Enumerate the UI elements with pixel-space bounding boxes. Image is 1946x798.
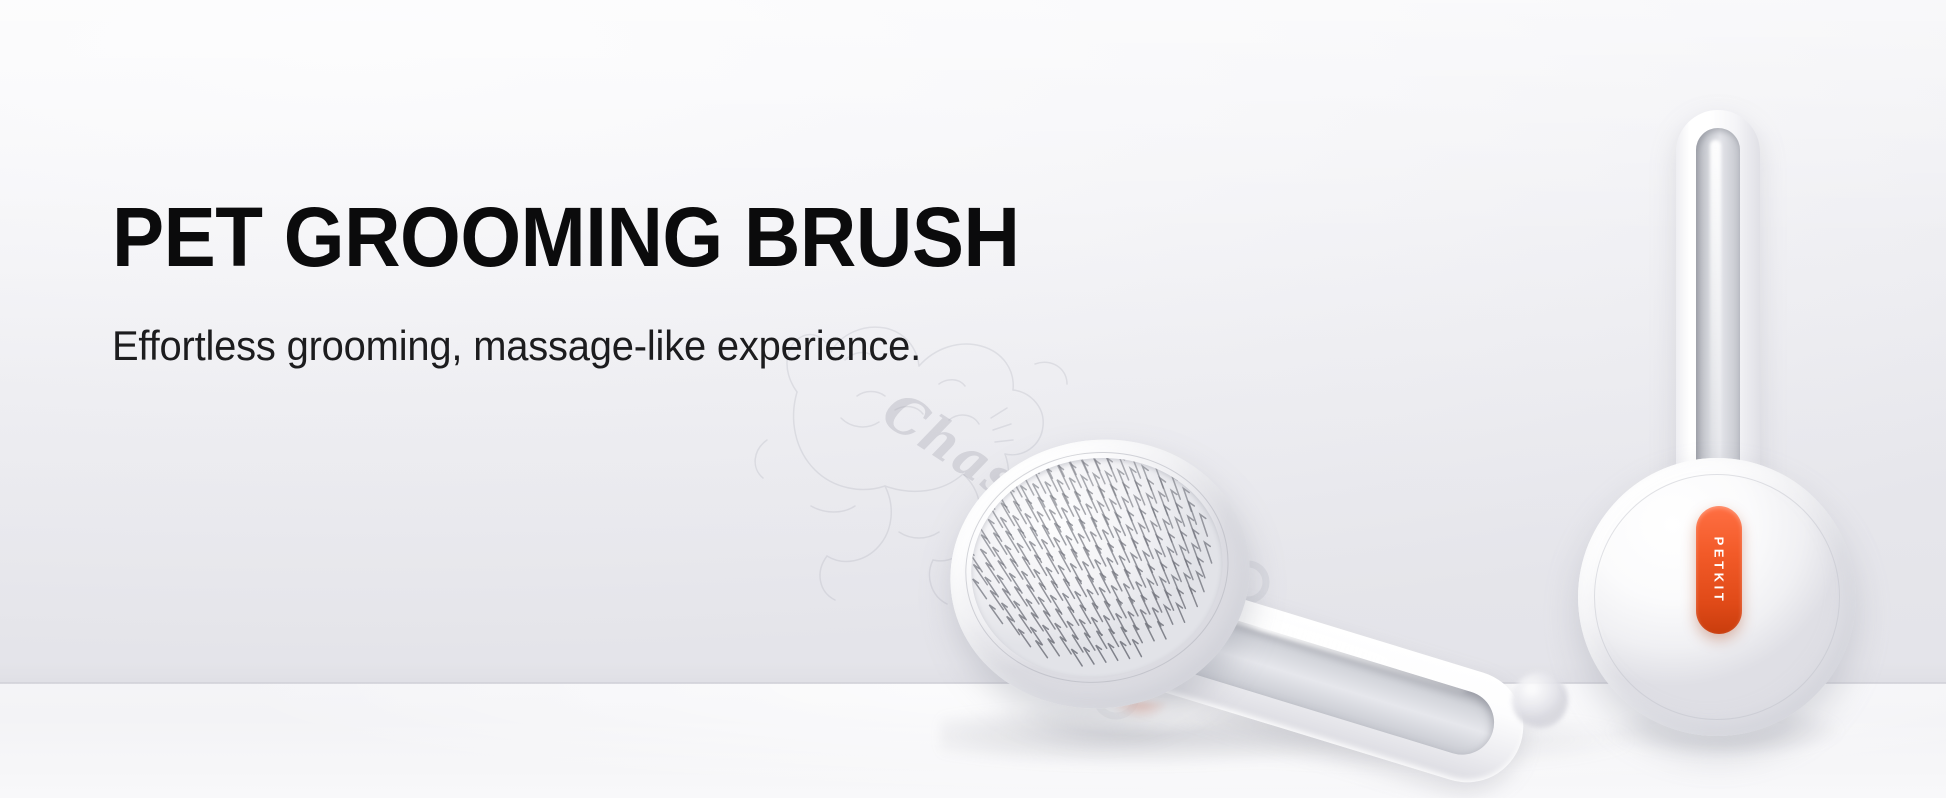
petkit-brand-label: PETKIT [1712, 536, 1727, 604]
banner-copy-block: PET GROOMING BRUSH Effortless grooming, … [112, 195, 1088, 370]
release-button-standing[interactable]: PETKIT [1696, 506, 1742, 634]
standing-handle-highlight [1710, 140, 1721, 470]
product-hero-banner: Chase a Tail PET GROOMING BRUSH Effortle… [0, 0, 1946, 798]
page-title: PET GROOMING BRUSH [112, 195, 1019, 279]
product-brush-standing: PETKIT [1560, 110, 1890, 750]
orange-button-reflection [1100, 702, 1180, 742]
product-brush-lying [950, 440, 1610, 798]
brush-head-rim [949, 433, 1246, 701]
page-subtitle: Effortless grooming, massage-like experi… [112, 322, 1039, 370]
